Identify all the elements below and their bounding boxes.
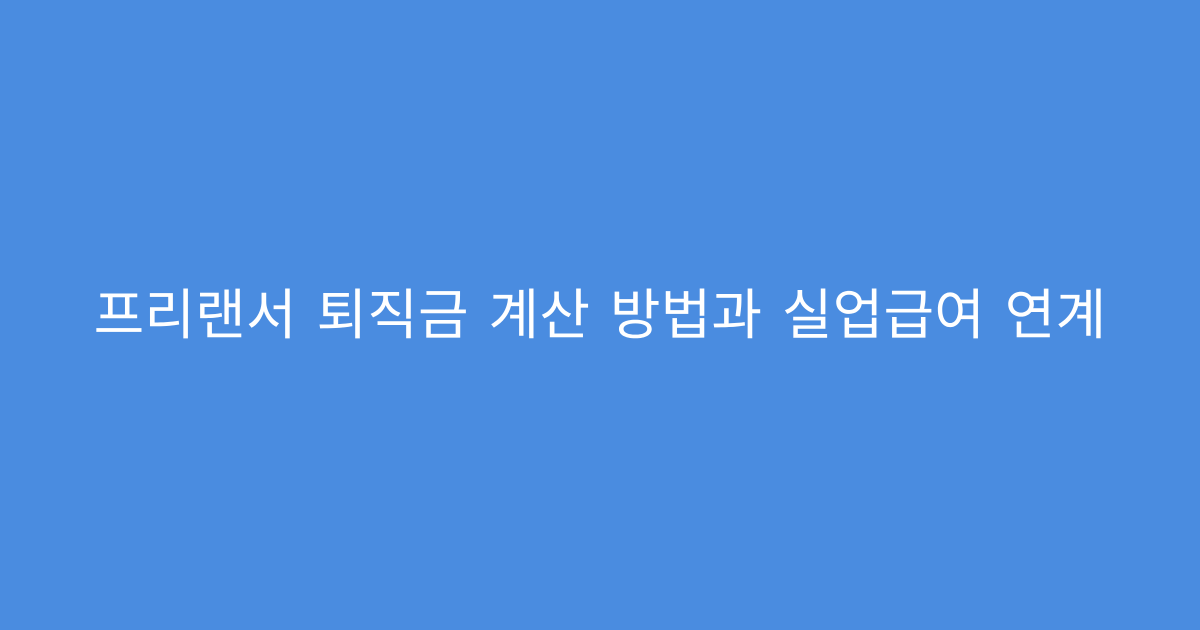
share-card-content: 프리랜서 퇴직금 계산 방법과 실업급여 연계 [0, 280, 1200, 350]
page-title: 프리랜서 퇴직금 계산 방법과 실업급여 연계 [94, 280, 1107, 350]
share-card: 프리랜서 퇴직금 계산 방법과 실업급여 연계 [0, 0, 1200, 630]
